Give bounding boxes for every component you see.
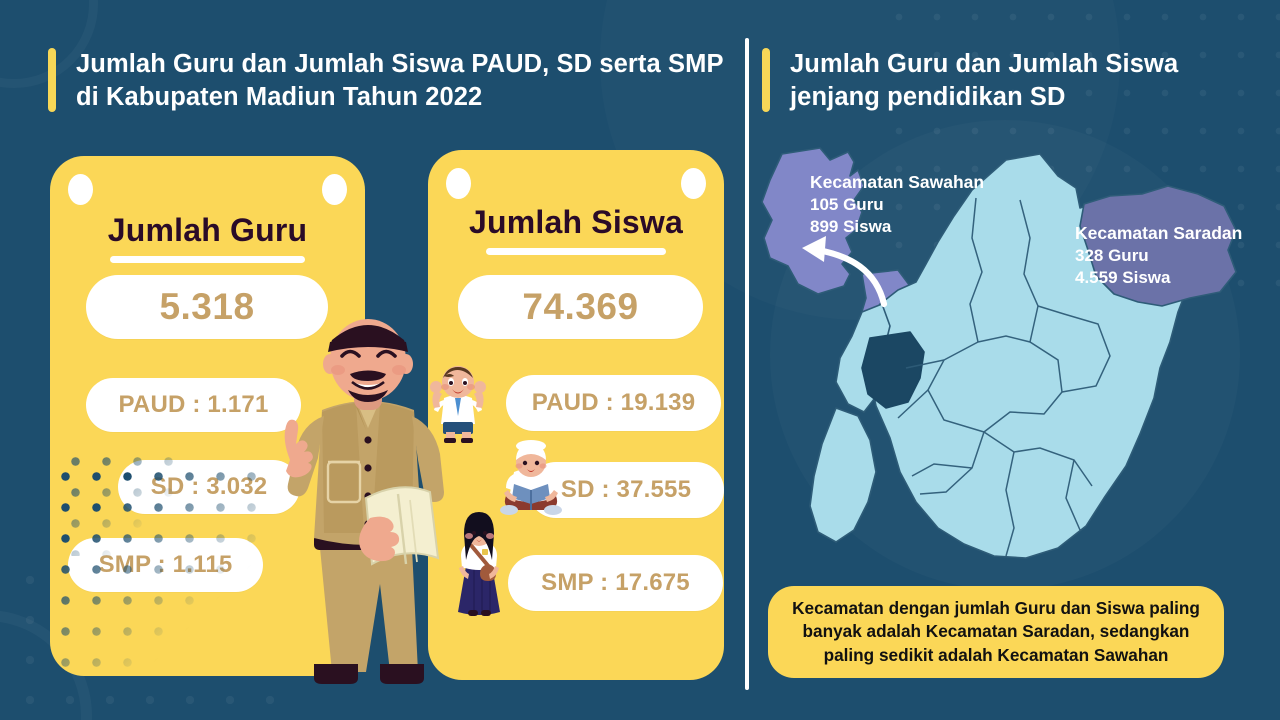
page-title-left-text: Jumlah Guru dan Jumlah Siswa PAUD, SD se… — [76, 48, 728, 114]
page-title-left: Jumlah Guru dan Jumlah Siswa PAUD, SD se… — [48, 48, 728, 114]
map-label-saradan: Kecamatan Saradan 328 Guru 4.559 Siswa — [1075, 222, 1242, 289]
stat-guru-sd: SD : 3.032 — [118, 460, 300, 514]
section-divider — [745, 38, 749, 690]
map-caption-text: Kecamatan dengan jumlah Guru dan Siswa p… — [778, 597, 1214, 667]
map-label-sawahan-guru: 105 Guru — [810, 194, 984, 216]
map-label-saradan-siswa: 4.559 Siswa — [1075, 267, 1242, 289]
stat-card-jumlah-guru: Jumlah Guru 5.318 PAUD : 1.171 SD : 3.03… — [50, 156, 365, 676]
punch-hole-icon — [446, 168, 471, 199]
stat-total-siswa: 74.369 — [458, 275, 703, 339]
stat-card-jumlah-siswa: Jumlah Siswa 74.369 PAUD : 19.139 SD : 3… — [428, 150, 724, 680]
stat-siswa-smp: SMP : 17.675 — [508, 555, 723, 611]
card-heading-guru: Jumlah Guru — [50, 212, 365, 249]
map-label-saradan-name: Kecamatan Saradan — [1075, 222, 1242, 245]
map-label-saradan-guru: 328 Guru — [1075, 245, 1242, 267]
card-heading-siswa: Jumlah Siswa — [428, 204, 724, 241]
stat-guru-paud: PAUD : 1.171 — [86, 378, 301, 432]
title-accent-bar — [48, 48, 56, 112]
punch-hole-icon — [322, 174, 347, 205]
punch-hole-icon — [68, 174, 93, 205]
map-caption-box: Kecamatan dengan jumlah Guru dan Siswa p… — [768, 586, 1224, 678]
stat-siswa-sd: SD : 37.555 — [528, 462, 724, 518]
card-heading-underline — [110, 256, 305, 263]
stat-total-guru: 5.318 — [86, 275, 328, 339]
title-accent-bar — [762, 48, 770, 112]
stat-siswa-paud: PAUD : 19.139 — [506, 375, 721, 431]
page-title-right-text: Jumlah Guru dan Jumlah Siswa jenjang pen… — [790, 48, 1232, 114]
map-label-sawahan-name: Kecamatan Sawahan — [810, 171, 984, 194]
punch-hole-icon — [681, 168, 706, 199]
card-heading-underline — [486, 248, 666, 255]
map-label-sawahan-siswa: 899 Siswa — [810, 216, 984, 238]
stat-guru-smp: SMP : 1.115 — [68, 538, 263, 592]
map-label-sawahan: Kecamatan Sawahan 105 Guru 899 Siswa — [810, 171, 984, 238]
page-title-right: Jumlah Guru dan Jumlah Siswa jenjang pen… — [762, 48, 1232, 114]
infographic-canvas: Jumlah Guru dan Jumlah Siswa PAUD, SD se… — [0, 0, 1280, 720]
